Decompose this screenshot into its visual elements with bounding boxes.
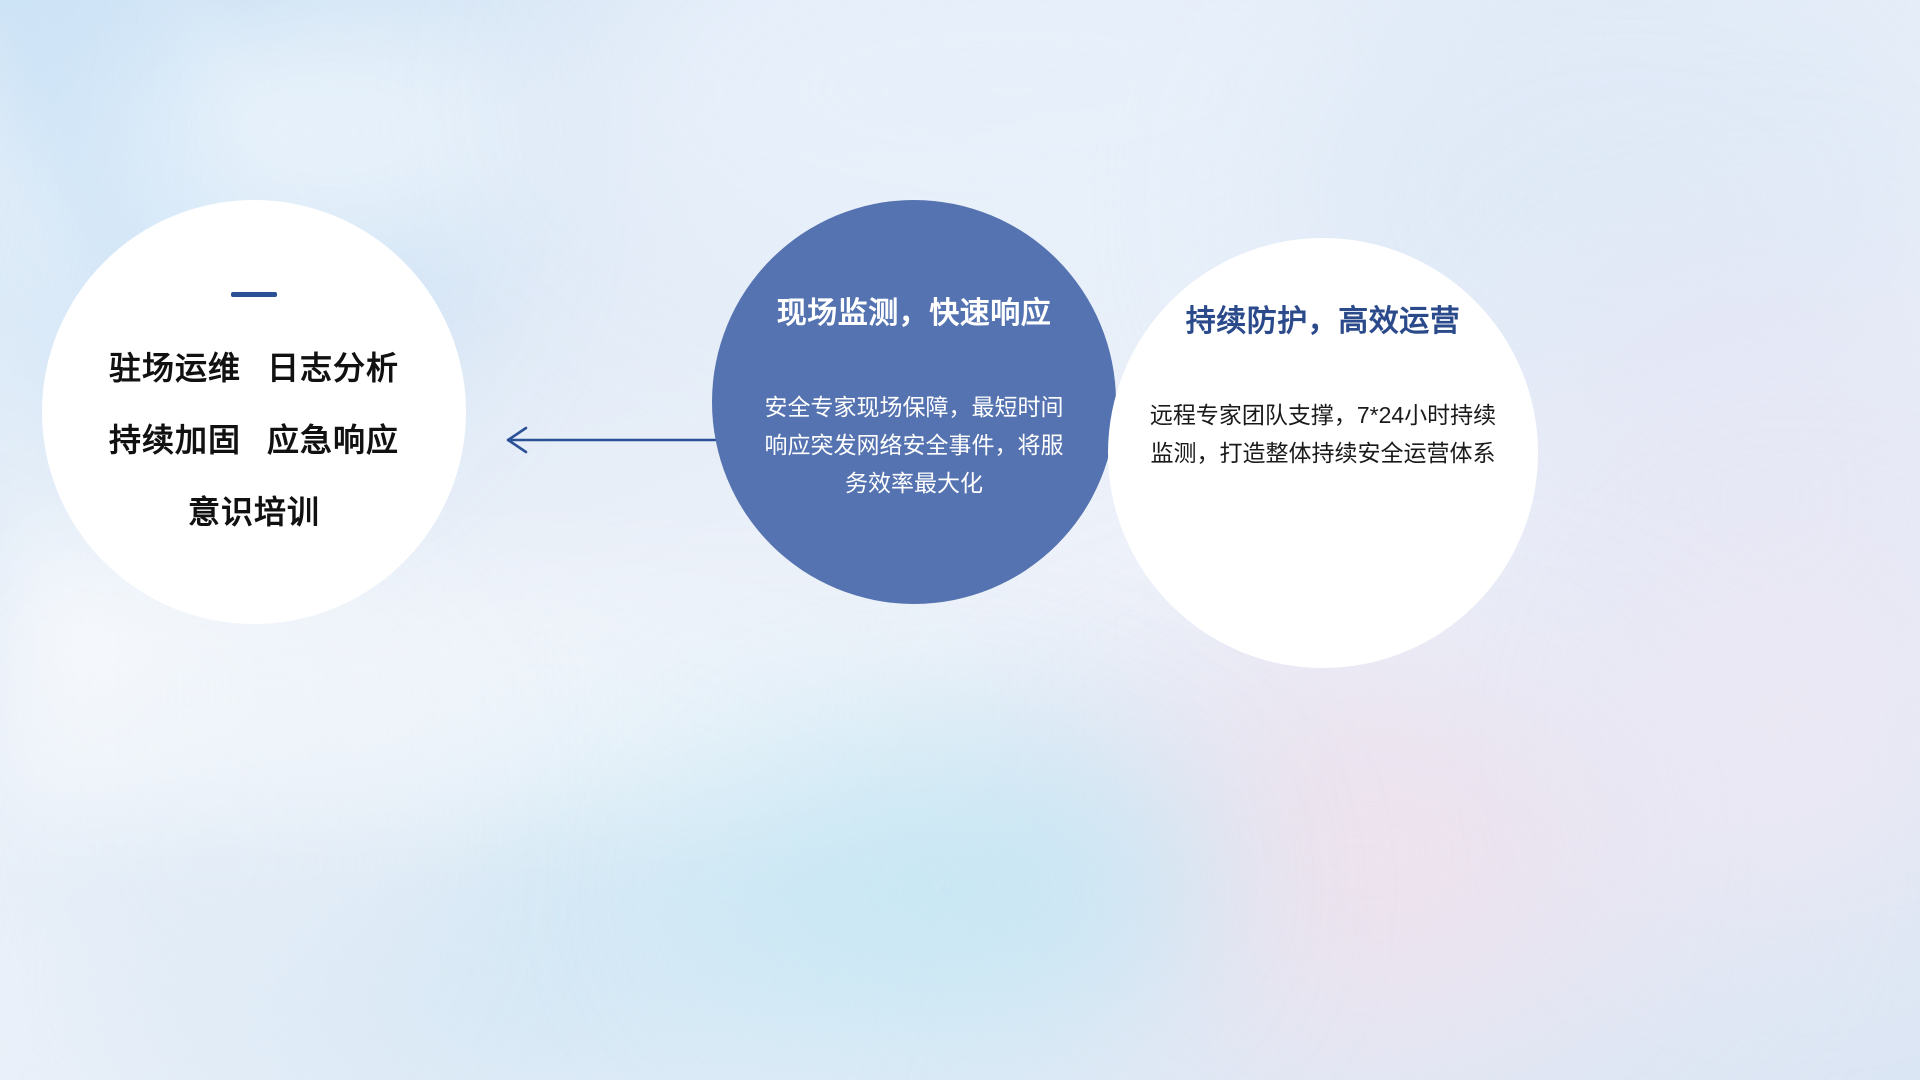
keyword-label: 应急响应 xyxy=(267,422,399,458)
background-blob xyxy=(1150,700,1570,1000)
right-circle-body: 远程专家团队支撑，7*24小时持续监测，打造整体持续安全运营体系 xyxy=(1145,396,1501,472)
right-operations-circle: 持续防护，高效运营 远程专家团队支撑，7*24小时持续监测，打造整体持续安全运营… xyxy=(1108,238,1538,668)
keyword-label: 日志分析 xyxy=(267,350,399,386)
left-keywords-list: 驻场运维日志分析 持续加固应急响应 意识培训 xyxy=(109,343,399,533)
keyword-label: 持续加固 xyxy=(109,422,241,458)
left-keywords-circle: 驻场运维日志分析 持续加固应急响应 意识培训 xyxy=(42,200,466,624)
title-divider-dash xyxy=(231,292,277,297)
flow-arrow-left-icon xyxy=(492,424,724,456)
keyword-label: 驻场运维 xyxy=(109,350,241,386)
list-item: 意识培训 xyxy=(188,487,320,533)
list-item: 持续加固应急响应 xyxy=(109,415,399,461)
center-onsite-circle: 现场监测，快速响应 安全专家现场保障，最短时间响应突发网络安全事件，将服务效率最… xyxy=(712,200,1116,604)
right-circle-title: 持续防护，高效运营 xyxy=(1186,296,1461,340)
slide-canvas: 驻场运维日志分析 持续加固应急响应 意识培训 现场监测，快速响应 安全专家现场保… xyxy=(0,0,1920,1080)
list-item: 驻场运维日志分析 xyxy=(109,343,399,389)
keyword-label: 意识培训 xyxy=(188,494,320,530)
center-circle-title: 现场监测，快速响应 xyxy=(777,288,1052,332)
center-circle-body: 安全专家现场保障，最短时间响应突发网络安全事件，将服务效率最大化 xyxy=(764,388,1064,502)
